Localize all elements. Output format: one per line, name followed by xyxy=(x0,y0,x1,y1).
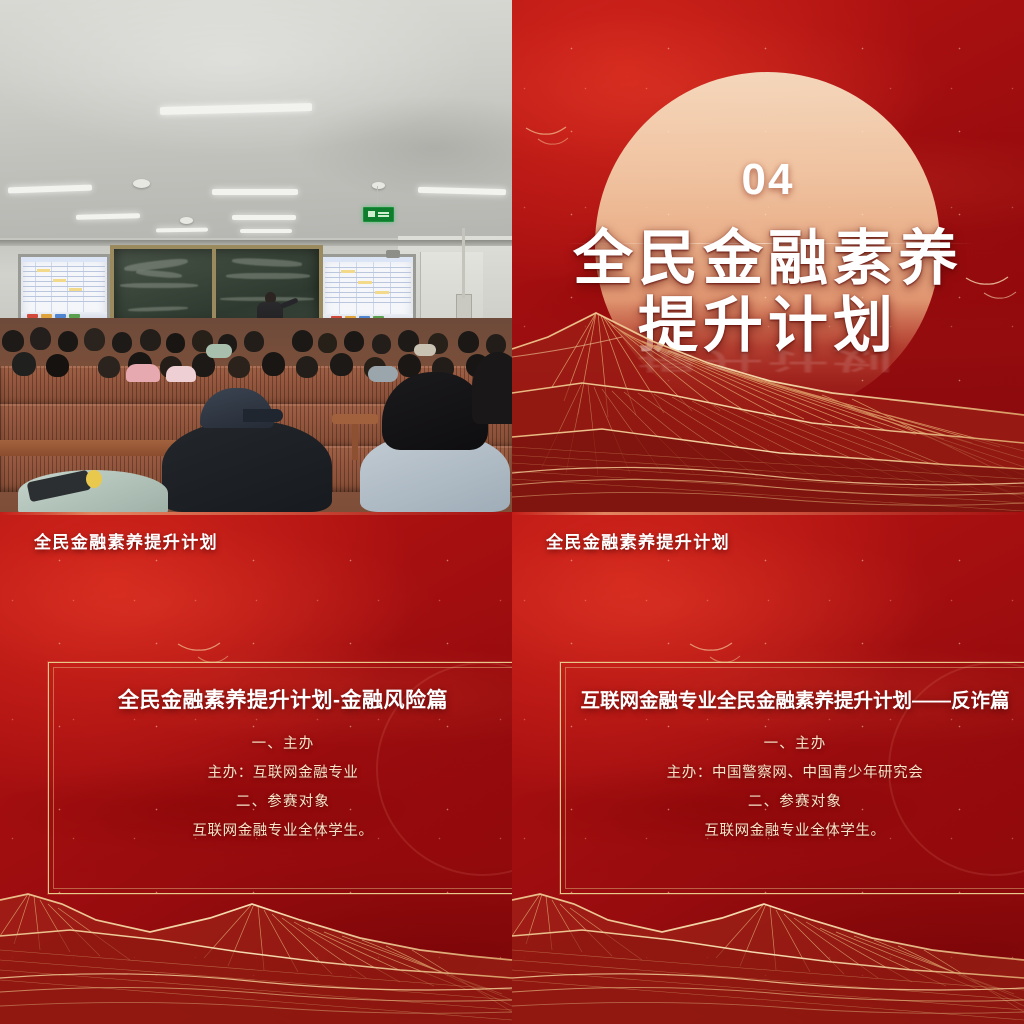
audience-head xyxy=(244,331,264,352)
ceiling-light xyxy=(212,189,298,195)
audience-clothing xyxy=(126,364,160,382)
panel-anti-fraud-slide: 全民金融素养提升计划 互联网金融专业全民金融素养提升计划——反诈篇 一、主办 主… xyxy=(512,512,1024,1024)
body-line: 互联网金融专业全体学生。 xyxy=(560,817,1024,846)
body-line: 互联网金融专业全体学生。 xyxy=(48,817,512,846)
chapter-title: 全民金融素养 提升计划 xyxy=(512,228,1024,356)
ceiling xyxy=(0,0,512,246)
card-title-risk: 全民金融素养提升计划-金融风险篇 xyxy=(48,684,512,714)
audience-head xyxy=(296,356,318,378)
table-pedestal xyxy=(352,424,358,460)
audience-head xyxy=(344,331,364,352)
audience-head xyxy=(58,331,78,352)
foreground-person-right-edge xyxy=(472,352,512,424)
audience-head xyxy=(372,334,391,354)
audience-head xyxy=(140,329,161,351)
chapter-number: 04 xyxy=(512,155,1024,205)
body-line: 二、参赛对象 xyxy=(48,788,512,817)
bird-icon xyxy=(176,638,222,658)
header-rule xyxy=(512,512,1024,515)
slide-collage: 04 全民金融素养 提升计划 xyxy=(0,0,1024,1024)
slide-header-risk: 全民金融素养提升计划 xyxy=(34,528,218,553)
audience-clothing xyxy=(368,366,398,382)
mountain-lineart xyxy=(512,874,1024,1024)
smoke-detector xyxy=(133,179,150,188)
bird-icon xyxy=(536,134,570,150)
panel-lecture-hall-photo xyxy=(0,0,512,512)
projection-screen-left xyxy=(18,254,110,322)
audience-head xyxy=(262,352,285,376)
card-body-fraud: 一、主办 主办：中国警察网、中国青少年研究会 二、参赛对象 互联网金融专业全体学… xyxy=(560,730,1024,846)
bird-icon xyxy=(524,122,568,142)
audience-head xyxy=(330,353,353,376)
audience-head xyxy=(166,333,185,353)
smoke-detector xyxy=(372,182,385,189)
yellow-accessory xyxy=(86,470,102,488)
audience-head xyxy=(12,352,36,376)
header-rule xyxy=(0,512,512,515)
conduit-pipe xyxy=(462,228,465,298)
audience-head xyxy=(318,333,337,353)
body-line: 二、参赛对象 xyxy=(560,788,1024,817)
panel-financial-risk-slide: 全民金融素养提升计划 全民金融素养提升计划-金融风险篇 一、主办 主办：互联网金… xyxy=(0,512,512,1024)
blackboard-divider xyxy=(212,245,216,323)
projector-mount xyxy=(386,250,400,258)
slide-header-fraud: 全民金融素养提升计划 xyxy=(546,528,730,553)
audience-head xyxy=(228,356,250,378)
mountain-lineart xyxy=(0,874,512,1024)
audience-head xyxy=(98,356,120,378)
chapter-title-reflection: 提升计划 xyxy=(512,343,1024,380)
body-line: 一、主办 xyxy=(560,730,1024,759)
cap-brim xyxy=(243,409,283,422)
audience-clothing xyxy=(206,344,232,358)
projection-screen-right xyxy=(320,254,416,324)
audience-clothing xyxy=(414,344,436,356)
chapter-title-line1: 全民金融素养 xyxy=(512,228,1024,289)
ceiling-light xyxy=(232,215,296,220)
audience-head xyxy=(292,330,313,352)
audience-head xyxy=(30,327,51,350)
card-title-fraud: 互联网金融专业全民金融素养提升计划——反诈篇 xyxy=(552,684,1024,713)
audience-head xyxy=(458,331,479,353)
audience-head xyxy=(112,332,132,353)
aisle-desk xyxy=(0,440,180,456)
foreground-person-cap xyxy=(162,420,332,512)
exit-sign-rod xyxy=(377,186,378,208)
ceiling-light xyxy=(240,229,292,233)
card-body-risk: 一、主办 主办：互联网金融专业 二、参赛对象 互联网金融专业全体学生。 xyxy=(48,730,512,846)
bird-icon xyxy=(688,638,734,658)
audience-head xyxy=(84,328,105,351)
side-table xyxy=(332,414,378,424)
body-line: 一、主办 xyxy=(48,730,512,759)
audience-head xyxy=(46,354,69,377)
panel-chapter-cover: 04 全民金融素养 提升计划 xyxy=(512,0,1024,512)
body-line: 主办：互联网金融专业 xyxy=(48,759,512,788)
smoke-detector xyxy=(180,217,193,224)
audience-clothing xyxy=(166,366,196,382)
exit-sign-icon xyxy=(363,207,394,222)
body-line: 主办：中国警察网、中国青少年研究会 xyxy=(560,759,1024,788)
audience-head xyxy=(2,330,24,352)
